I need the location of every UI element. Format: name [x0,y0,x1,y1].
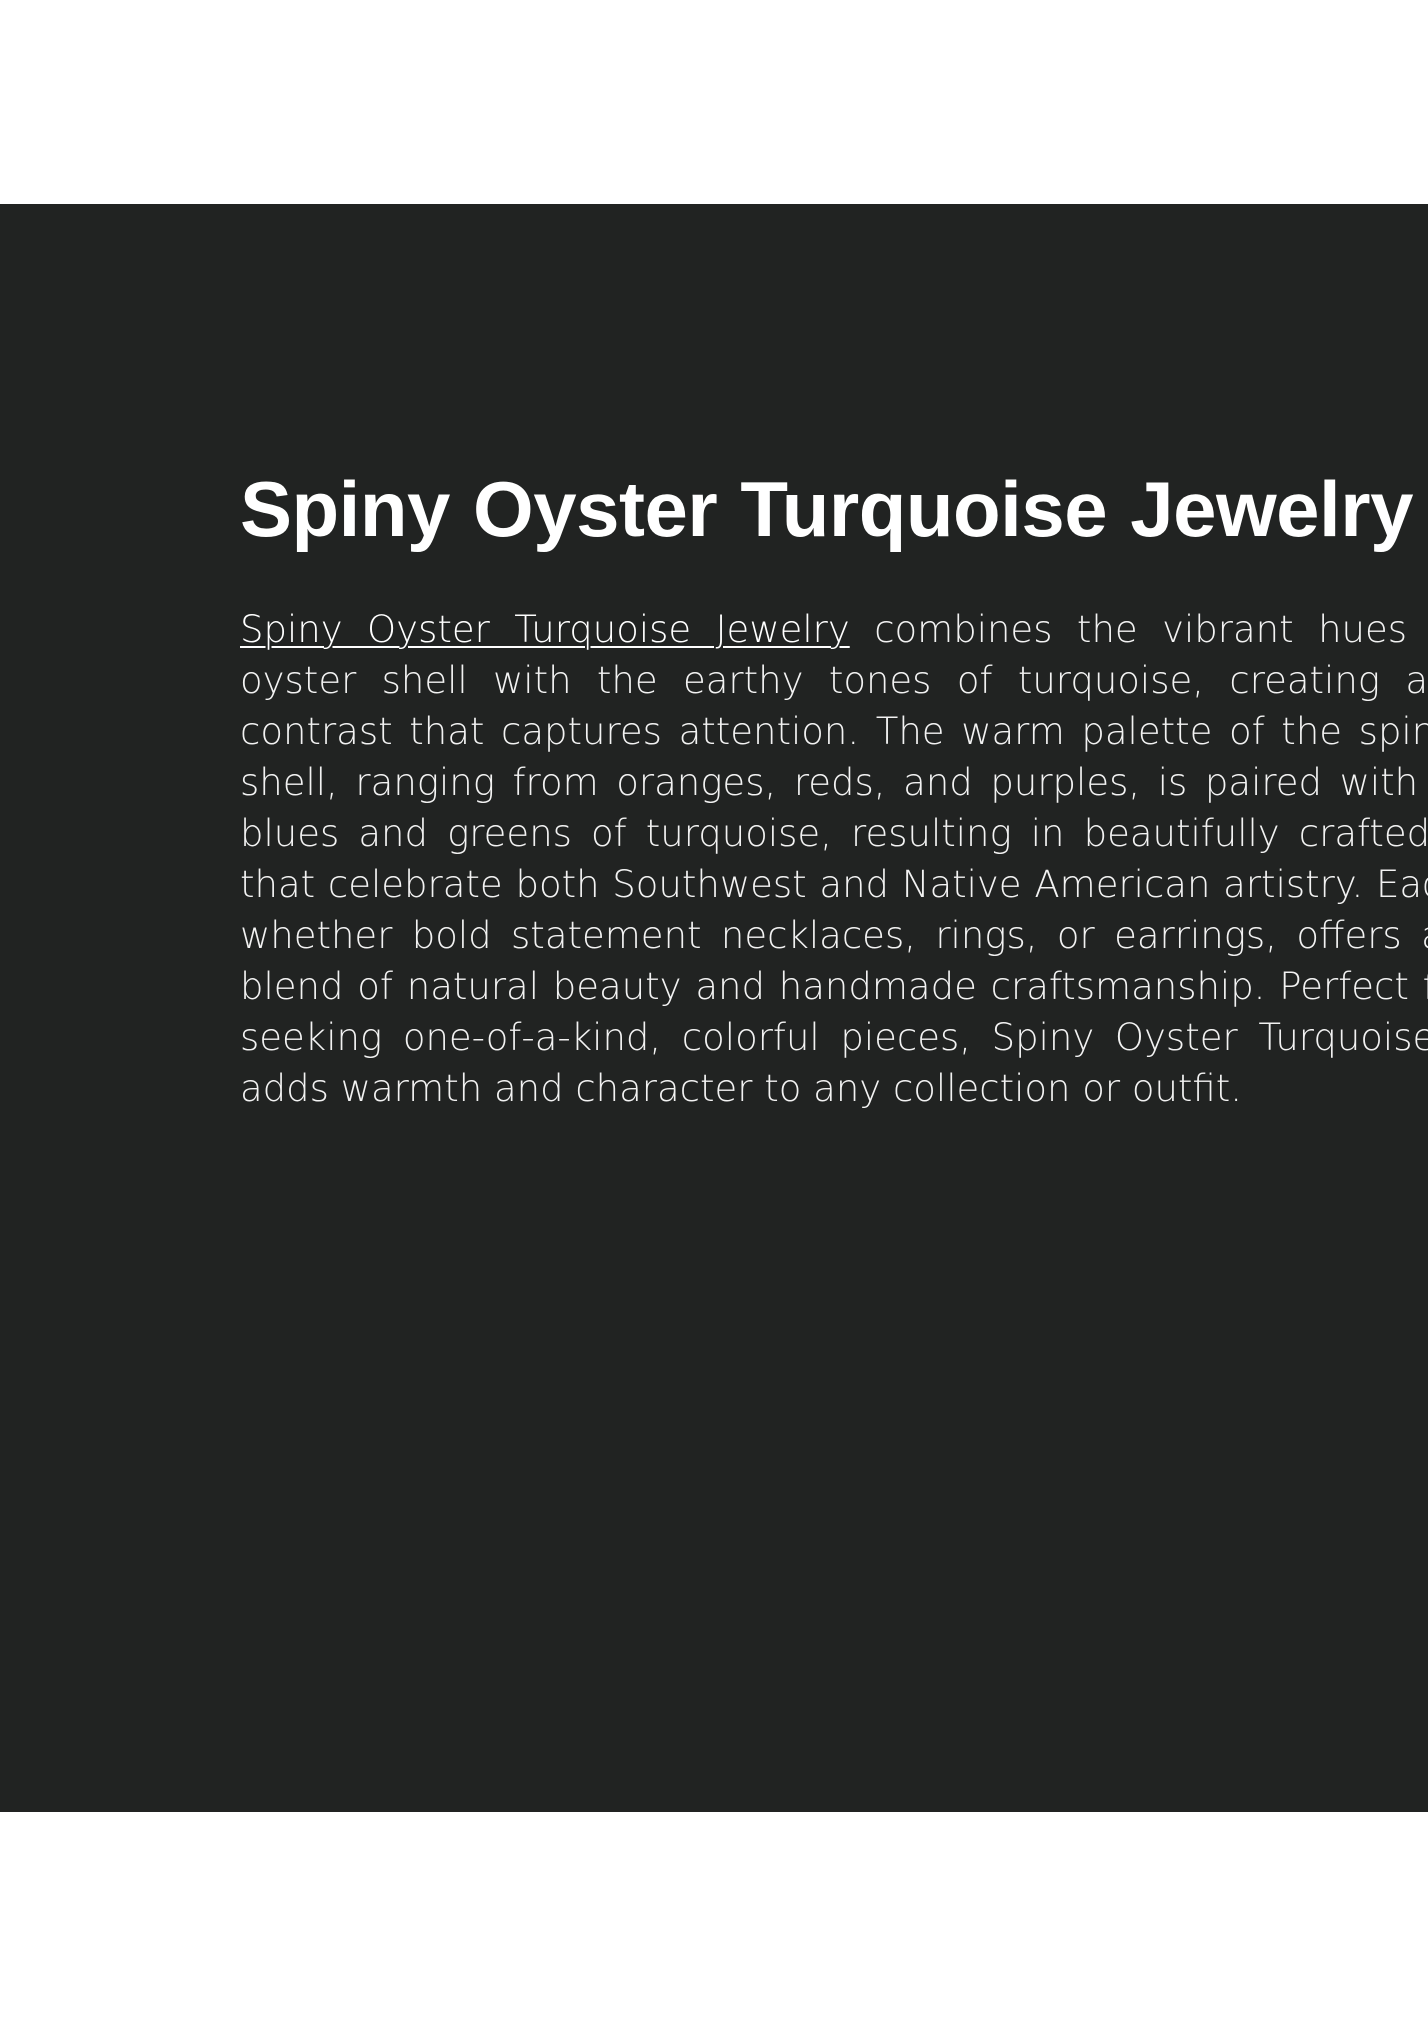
article-body-rest: combines the vibrant hues of spiny oyste… [240,608,1428,1110]
article-title: Spiny Oyster Turquoise Jewelry [240,456,1428,562]
article-panel: Spiny Oyster Turquoise Jewelry Spiny Oys… [0,204,1428,1812]
spiny-oyster-turquoise-jewelry-link[interactable]: Spiny Oyster Turquoise Jewelry [240,608,850,651]
article-body-text: Spiny Oyster Turquoise Jewelry combines … [240,604,1428,1114]
bottom-gutter [0,1812,1428,2018]
article-content: Spiny Oyster Turquoise Jewelry Spiny Oys… [240,456,1428,1114]
top-gutter [0,0,1428,204]
page-root: Spiny Oyster Turquoise Jewelry Spiny Oys… [0,0,1428,2018]
